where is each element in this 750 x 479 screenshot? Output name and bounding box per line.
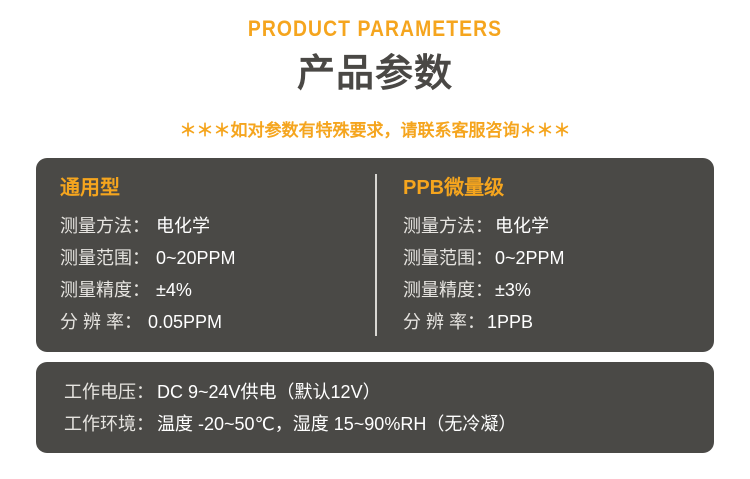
- env-row: 工作电压： DC 9~24V供电（默认12V）: [64, 376, 516, 408]
- env-label: 工作电压：: [64, 376, 154, 408]
- spec-label: 测量精度：: [60, 274, 150, 306]
- spec-value: 0~20PPM: [156, 242, 236, 274]
- spec-value: 电化学: [495, 210, 549, 242]
- spec-value: ±3%: [495, 274, 531, 306]
- spec-label: 测量方法：: [403, 210, 493, 242]
- spec-row: 测量方法： 电化学: [60, 210, 375, 242]
- spec-label: 测量范围：: [403, 242, 493, 274]
- environment-list: 工作电压： DC 9~24V供电（默认12V） 工作环境： 温度 -20~50℃…: [64, 376, 516, 440]
- spec-row: 测量精度： ±4%: [60, 274, 375, 306]
- spec-row: 测量方法： 电化学: [403, 210, 703, 242]
- spec-label: 分 辨 率：: [60, 306, 142, 338]
- spec-list-general: 测量方法： 电化学 测量范围： 0~20PPM 测量精度： ±4% 分 辨 率：…: [60, 210, 375, 338]
- spec-list-ppb: 测量方法： 电化学 测量范围： 0~2PPM 测量精度： ±3% 分 辨 率： …: [403, 210, 703, 338]
- eyebrow-heading: PRODUCT PARAMETERS: [45, 16, 705, 42]
- env-value: 温度 -20~50℃，湿度 15~90%RH（无冷凝）: [157, 408, 516, 440]
- specs-panel: 通用型 测量方法： 电化学 测量范围： 0~20PPM 测量精度： ±4% 分 …: [36, 158, 714, 352]
- spec-row: 测量范围： 0~20PPM: [60, 242, 375, 274]
- spec-row: 分 辨 率： 0.05PPM: [60, 306, 375, 338]
- spec-value: 1PPB: [487, 306, 533, 338]
- product-parameters-page: PRODUCT PARAMETERS 产品参数 ＊＊＊如对参数有特殊要求，请联系…: [0, 0, 750, 479]
- env-label: 工作环境：: [64, 408, 154, 440]
- spec-column-title: PPB微量级: [403, 174, 504, 202]
- env-value: DC 9~24V供电（默认12V）: [157, 376, 381, 408]
- environment-panel: 工作电压： DC 9~24V供电（默认12V） 工作环境： 温度 -20~50℃…: [36, 362, 714, 453]
- column-divider: [375, 174, 377, 336]
- spec-row: 测量精度： ±3%: [403, 274, 703, 306]
- spec-value: 0~2PPM: [495, 242, 565, 274]
- env-row: 工作环境： 温度 -20~50℃，湿度 15~90%RH（无冷凝）: [64, 408, 516, 440]
- custom-request-note: ＊＊＊如对参数有特殊要求，请联系客服咨询＊＊＊: [0, 119, 750, 143]
- spec-label: 测量精度：: [403, 274, 493, 306]
- spec-column-ppb: PPB微量级 测量方法： 电化学 测量范围： 0~2PPM 测量精度： ±3% …: [403, 158, 703, 352]
- spec-value: ±4%: [156, 274, 192, 306]
- spec-label: 分 辨 率：: [403, 306, 485, 338]
- spec-label: 测量方法：: [60, 210, 150, 242]
- spec-column-general: 通用型 测量方法： 电化学 测量范围： 0~20PPM 测量精度： ±4% 分 …: [60, 158, 375, 352]
- spec-row: 测量范围： 0~2PPM: [403, 242, 703, 274]
- spec-value: 电化学: [156, 210, 210, 242]
- page-title: 产品参数: [0, 50, 750, 98]
- spec-row: 分 辨 率： 1PPB: [403, 306, 703, 338]
- spec-label: 测量范围：: [60, 242, 150, 274]
- spec-value: 0.05PPM: [148, 306, 222, 338]
- spec-column-title: 通用型: [60, 174, 120, 202]
